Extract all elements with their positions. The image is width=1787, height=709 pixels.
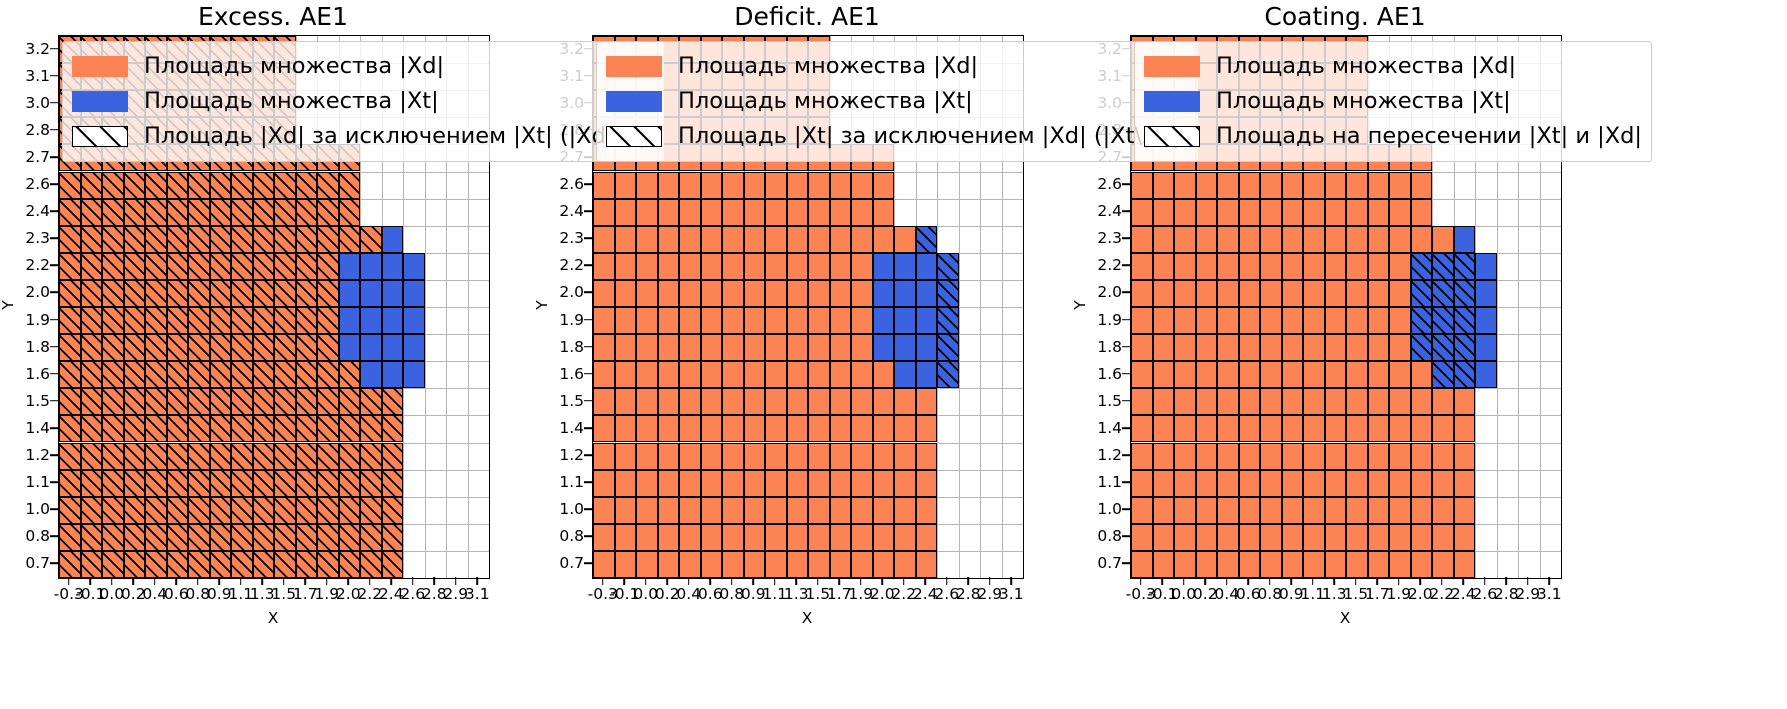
hatch-overlay (1455, 308, 1475, 333)
xt-cell (382, 361, 404, 388)
xd-cell (210, 388, 232, 415)
hatch-overlay (82, 281, 102, 306)
xt-cell (339, 280, 361, 307)
hatch-overlay (1433, 308, 1453, 333)
hatch-overlay (125, 416, 145, 441)
y-axis-tick-mark (50, 48, 58, 50)
xd-cell (1389, 524, 1411, 551)
xd-cell (636, 280, 658, 307)
xd-cell (593, 226, 615, 253)
hatch-overlay (297, 308, 317, 333)
hatch-overlay (211, 227, 231, 252)
xd-cell (124, 361, 146, 388)
hatch-overlay (232, 471, 252, 496)
xd-cell (210, 551, 232, 578)
xd-cell (102, 226, 124, 253)
x-axis-tick-mark (1161, 577, 1163, 585)
xt-cell (916, 361, 938, 388)
xd-cell (102, 551, 124, 578)
hatch-overlay (168, 308, 188, 333)
xd-cell (851, 388, 873, 415)
xd-cell (744, 253, 766, 280)
y-axis-label: Y (0, 255, 17, 355)
xd-cell (787, 497, 809, 524)
xt-cell (403, 253, 425, 280)
xd-cell (873, 470, 895, 497)
xd-cell (1389, 361, 1411, 388)
xd-cell (1131, 415, 1153, 442)
xd-cell (188, 172, 210, 199)
xd-cell (317, 443, 339, 470)
xd-cell (296, 280, 318, 307)
xd-cell (231, 280, 253, 307)
x-axis-tick-mark (623, 577, 625, 585)
xd-cell (830, 334, 852, 361)
x-axis-tick-mark (1548, 577, 1550, 585)
xt-cell (1475, 280, 1497, 307)
y-axis-tick-label: 1.1 (6, 473, 50, 491)
y-axis-tick-mark (1122, 183, 1130, 185)
xd-cell (1454, 415, 1476, 442)
xd-cell (593, 470, 615, 497)
xd-cell (722, 307, 744, 334)
xd-cell (593, 524, 615, 551)
xd-cell (679, 524, 701, 551)
xd-cell (1368, 280, 1390, 307)
hatch-overlay (211, 525, 231, 550)
hatch-overlay (232, 254, 252, 279)
x-axis-tick-mark (1204, 577, 1206, 585)
legend-label: Площадь на пересечении |Xt| и |Xd| (1216, 125, 1642, 148)
xt-cell (382, 334, 404, 361)
xd-cell (658, 551, 680, 578)
panel-coating: Coating. AE13.23.13.02.82.72.62.42.32.22… (1085, 0, 1787, 709)
xd-cell (210, 172, 232, 199)
xt-cell (894, 307, 916, 334)
xd-cell (188, 307, 210, 334)
hatch-overlay (211, 416, 231, 441)
xd-cell (1282, 470, 1304, 497)
xd-cell (1174, 334, 1196, 361)
y-axis-tick-label: 0.7 (1078, 554, 1122, 572)
xt-cell (382, 280, 404, 307)
xd-cell (722, 388, 744, 415)
xd-cell (701, 172, 723, 199)
hatch-overlay (82, 200, 102, 225)
xd-cell (830, 199, 852, 226)
xd-cell (167, 524, 189, 551)
hatch-overlay (146, 498, 166, 523)
hatch-overlay (318, 281, 338, 306)
xd-cell (253, 388, 275, 415)
xd-cell (1174, 497, 1196, 524)
hatch-overlay (275, 335, 295, 360)
xd-cell (339, 497, 361, 524)
xd-cell (167, 253, 189, 280)
y-axis-tick-mark (50, 265, 58, 267)
hatch-overlay (938, 308, 958, 333)
xd-cell (873, 361, 895, 388)
x-axis-tick-mark (390, 577, 392, 585)
xd-cell (1174, 280, 1196, 307)
hatch-overlay (82, 335, 102, 360)
xd-cell (231, 226, 253, 253)
xt-cell (873, 253, 895, 280)
y-axis-tick-label: 1.6 (1078, 365, 1122, 383)
hatch-overlay (146, 227, 166, 252)
hatch-overlay (211, 389, 231, 414)
xd-cell (317, 334, 339, 361)
xd-cell (765, 334, 787, 361)
xd-cell (124, 334, 146, 361)
hatch-overlay (340, 362, 360, 387)
hatch-overlay (189, 173, 209, 198)
y-axis-tick-mark (50, 183, 58, 185)
xd-cell (274, 415, 296, 442)
xd-cell (1260, 443, 1282, 470)
xd-cell (744, 551, 766, 578)
xd-cell (894, 497, 916, 524)
xd-cell (1153, 253, 1175, 280)
xd-cell (1303, 415, 1325, 442)
xd-cell (210, 334, 232, 361)
y-axis-tick-mark (584, 210, 592, 212)
xd-cell (81, 415, 103, 442)
xd-cell (873, 226, 895, 253)
xt-cell (360, 280, 382, 307)
xd-cell (231, 307, 253, 334)
legend-label: Площадь множества |Xd| (144, 55, 444, 78)
xd-cell (1389, 199, 1411, 226)
y-axis-tick-mark (50, 373, 58, 375)
xd-cell (253, 172, 275, 199)
hatch-overlay (340, 227, 360, 252)
hatch-overlay (211, 444, 231, 469)
xd-cell (615, 551, 637, 578)
xd-cell (1239, 307, 1261, 334)
xd-cell (81, 470, 103, 497)
xd-cell (593, 253, 615, 280)
hatch-overlay (146, 254, 166, 279)
xd-cell (765, 199, 787, 226)
xt-cell (1432, 334, 1454, 361)
y-axis-tick-mark (1122, 427, 1130, 429)
xt-cell (894, 361, 916, 388)
xd-cell (636, 551, 658, 578)
y-axis-tick-label: 2.6 (1078, 175, 1122, 193)
xd-cell (658, 524, 680, 551)
xd-cell (81, 199, 103, 226)
hatch-overlay (60, 308, 80, 333)
xt-cell (360, 361, 382, 388)
y-axis-tick-mark (50, 129, 58, 131)
xd-cell (210, 280, 232, 307)
x-axis-tick-mark (1419, 577, 1421, 585)
x-axis-tick-mark (817, 577, 819, 585)
xd-cell (851, 253, 873, 280)
xd-cell (1174, 307, 1196, 334)
hatch-overlay (383, 498, 403, 523)
legend-hatch-lines (73, 127, 127, 146)
xd-cell (1432, 388, 1454, 415)
x-axis-tick-mark (240, 577, 242, 585)
xd-cell (145, 172, 167, 199)
y-axis-tick-mark (1122, 210, 1130, 212)
xd-cell (1432, 551, 1454, 578)
xd-cell (744, 415, 766, 442)
xd-cell (851, 443, 873, 470)
xd-cell (296, 253, 318, 280)
xd-cell (231, 334, 253, 361)
xd-cell (145, 361, 167, 388)
xd-cell (873, 551, 895, 578)
xd-cell (360, 551, 382, 578)
hatch-overlay (1412, 254, 1432, 279)
xd-cell (231, 443, 253, 470)
xd-cell (210, 524, 232, 551)
xd-cell (1368, 199, 1390, 226)
xd-cell (1217, 226, 1239, 253)
xd-cell (765, 470, 787, 497)
xd-cell (253, 470, 275, 497)
xd-cell (81, 226, 103, 253)
xd-cell (873, 497, 895, 524)
xd-cell (1239, 199, 1261, 226)
legend-hatch-lines (1145, 127, 1199, 146)
xd-cell (59, 551, 81, 578)
y-axis-tick-label: 0.8 (1078, 527, 1122, 545)
hatch-overlay (103, 173, 123, 198)
y-axis-tick-label: 1.2 (6, 446, 50, 464)
xd-cell (59, 172, 81, 199)
xd-cell (1239, 172, 1261, 199)
panel-excess: Excess. AE13.23.13.02.82.72.62.42.32.22.… (0, 0, 545, 709)
xd-cell (636, 172, 658, 199)
panel-title: Coating. AE1 (1130, 2, 1560, 31)
x-axis-tick-mark (1312, 577, 1314, 585)
xd-cell (274, 470, 296, 497)
xd-cell (274, 226, 296, 253)
xd-cell (1131, 470, 1153, 497)
xd-cell (916, 388, 938, 415)
xd-cell (145, 226, 167, 253)
xt-cell (360, 307, 382, 334)
x-axis-tick-mark (1269, 577, 1271, 585)
xd-cell (59, 443, 81, 470)
xd-cell (167, 199, 189, 226)
xd-cell (636, 199, 658, 226)
legend-swatch-orange (72, 56, 128, 77)
xd-cell (317, 388, 339, 415)
hatch-overlay (1455, 254, 1475, 279)
xd-cell (1346, 497, 1368, 524)
xd-cell (1174, 226, 1196, 253)
x-axis-tick-mark (304, 577, 306, 585)
y-axis-tick-label: 1.1 (1078, 473, 1122, 491)
hatch-overlay (211, 498, 231, 523)
xt-cell (1454, 334, 1476, 361)
hatch-overlay (361, 498, 381, 523)
xd-cell (1217, 334, 1239, 361)
xd-cell (1131, 307, 1153, 334)
xd-cell (658, 443, 680, 470)
x-axis-tick-mark (924, 577, 926, 585)
xd-cell (1454, 524, 1476, 551)
hatch-overlay (103, 552, 123, 577)
xd-cell (593, 415, 615, 442)
hatch-overlay (361, 227, 381, 252)
xd-cell (1196, 280, 1218, 307)
x-axis-label: X (592, 609, 1022, 627)
xd-cell (1432, 415, 1454, 442)
xd-cell (1346, 470, 1368, 497)
xd-cell (167, 443, 189, 470)
xd-cell (1131, 226, 1153, 253)
xd-cell (59, 415, 81, 442)
xd-cell (851, 226, 873, 253)
hatch-overlay (168, 552, 188, 577)
xd-cell (124, 415, 146, 442)
xd-cell (1239, 280, 1261, 307)
hatch-overlay (383, 552, 403, 577)
hatch-overlay (275, 200, 295, 225)
xd-cell (1303, 307, 1325, 334)
xd-cell (679, 443, 701, 470)
hatch-overlay (275, 308, 295, 333)
xd-cell (722, 415, 744, 442)
xd-cell (873, 199, 895, 226)
y-axis-tick-label: 1.6 (540, 365, 584, 383)
hatch-overlay (103, 200, 123, 225)
xd-cell (339, 388, 361, 415)
legend-row: Площадь множества |Xd| (1144, 49, 1642, 84)
xt-cell (403, 334, 425, 361)
xd-cell (1260, 334, 1282, 361)
xd-cell (1196, 443, 1218, 470)
y-axis-tick-label: 3.1 (6, 67, 50, 85)
xd-cell (679, 497, 701, 524)
xd-cell (253, 497, 275, 524)
xd-cell (1303, 361, 1325, 388)
xd-cell (1217, 307, 1239, 334)
hatch-overlay (232, 173, 252, 198)
xd-cell (1217, 253, 1239, 280)
x-axis-tick-mark (1183, 577, 1185, 585)
x-axis-label: X (58, 609, 488, 627)
hatch-overlay (340, 498, 360, 523)
xt-cell (403, 280, 425, 307)
y-axis-tick-mark (50, 156, 58, 158)
xd-cell (701, 307, 723, 334)
xd-cell (1239, 443, 1261, 470)
hatch-overlay (103, 362, 123, 387)
xd-cell (1325, 199, 1347, 226)
xd-cell (851, 470, 873, 497)
hatch-overlay (189, 444, 209, 469)
xd-cell (1131, 172, 1153, 199)
xd-cell (124, 199, 146, 226)
hatch-overlay (60, 281, 80, 306)
xd-cell (722, 172, 744, 199)
y-axis-tick-mark (584, 454, 592, 456)
xd-cell (1368, 226, 1390, 253)
xd-cell (1325, 388, 1347, 415)
xd-cell (1282, 524, 1304, 551)
xd-cell (1303, 388, 1325, 415)
xt-cell (1411, 307, 1433, 334)
hatch-overlay (211, 173, 231, 198)
xd-cell (1432, 497, 1454, 524)
hatch-overlay (318, 525, 338, 550)
xd-cell (722, 199, 744, 226)
hatch-overlay (146, 362, 166, 387)
xd-cell (851, 199, 873, 226)
hatch-overlay (297, 281, 317, 306)
xd-cell (210, 361, 232, 388)
xd-cell (1346, 226, 1368, 253)
xd-cell (658, 172, 680, 199)
xd-cell (658, 361, 680, 388)
hatch-overlay (82, 308, 102, 333)
legend-row: Площадь на пересечении |Xt| и |Xd| (1144, 119, 1642, 154)
xd-cell (808, 497, 830, 524)
xd-cell (851, 172, 873, 199)
xd-cell (1260, 280, 1282, 307)
xd-cell (765, 443, 787, 470)
xd-cell (145, 199, 167, 226)
xd-cell (1174, 388, 1196, 415)
y-axis-tick-mark (1122, 346, 1130, 348)
xd-cell (59, 524, 81, 551)
y-axis-tick-mark (584, 237, 592, 239)
xt-cell (916, 226, 938, 253)
xd-cell (1239, 524, 1261, 551)
y-axis-tick-mark (1122, 508, 1130, 510)
xd-cell (317, 551, 339, 578)
y-axis-tick-mark (50, 346, 58, 348)
xd-cell (1454, 388, 1476, 415)
xd-cell (1282, 415, 1304, 442)
legend-label: Площадь множества |Xt| (678, 90, 973, 113)
y-axis-tick-mark (584, 346, 592, 348)
legend-excess: Площадь множества |Xd|Площадь множества … (62, 41, 664, 162)
xd-cell (701, 226, 723, 253)
xd-cell (808, 280, 830, 307)
xd-cell (679, 361, 701, 388)
xt-cell (1432, 280, 1454, 307)
xd-cell (851, 280, 873, 307)
xd-cell (145, 415, 167, 442)
y-axis-tick-mark (584, 183, 592, 185)
x-axis-tick-mark (68, 577, 70, 585)
hatch-overlay (254, 389, 274, 414)
xd-cell (1131, 388, 1153, 415)
hatch-overlay (103, 525, 123, 550)
xd-cell (765, 280, 787, 307)
hatch-overlay (297, 498, 317, 523)
xd-cell (81, 388, 103, 415)
xd-cell (59, 280, 81, 307)
xd-cell (1260, 524, 1282, 551)
hatch-overlay (1433, 362, 1453, 387)
xd-cell (636, 226, 658, 253)
xd-cell (59, 388, 81, 415)
xd-cell (787, 307, 809, 334)
legend-row: Площадь множества |Xt| (1144, 84, 1642, 119)
xd-cell (1368, 172, 1390, 199)
panel-deficit: Deficit. AE13.23.13.02.82.72.62.42.32.22… (545, 0, 1085, 709)
xd-cell (253, 307, 275, 334)
